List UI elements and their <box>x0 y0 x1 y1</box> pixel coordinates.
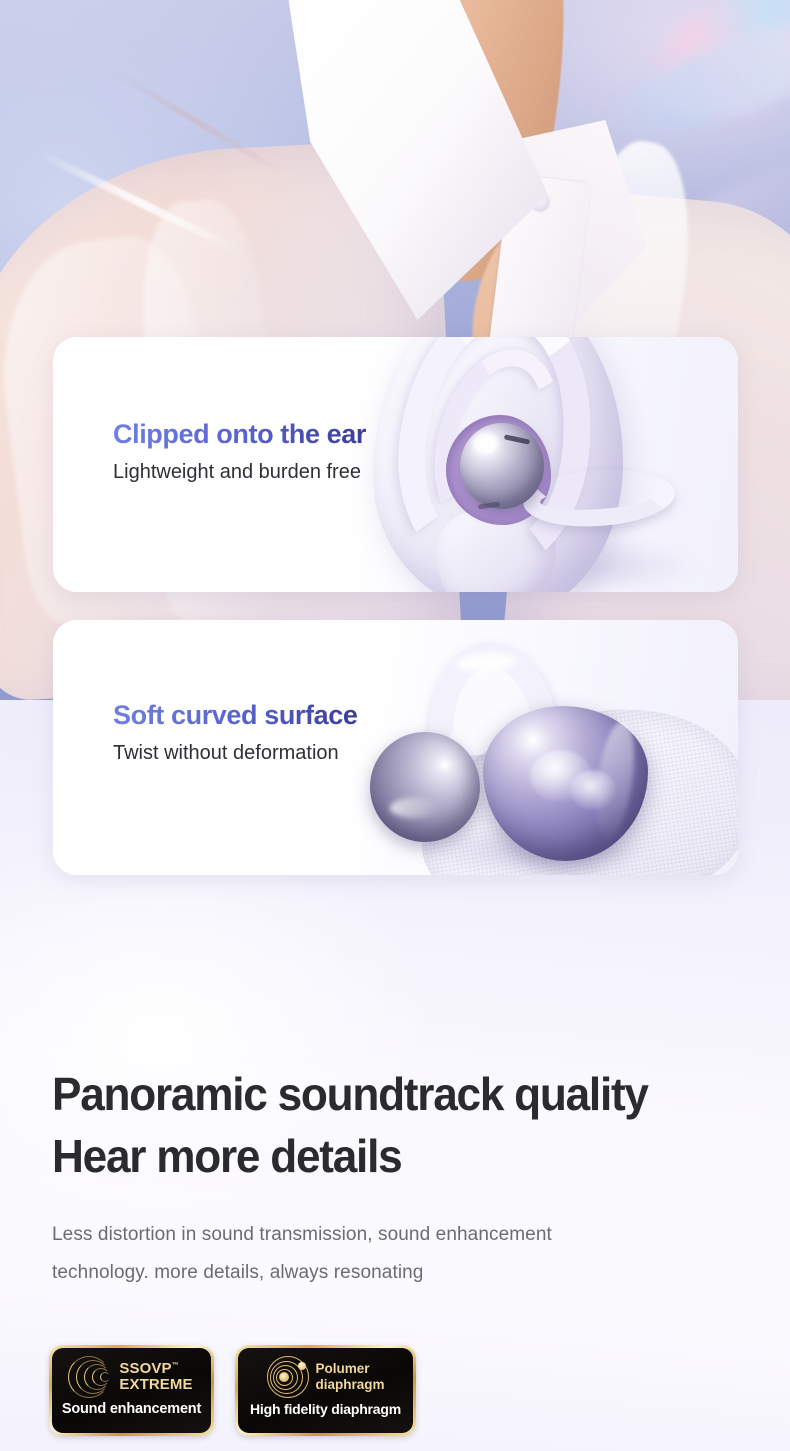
headline-line-1: Panoramic soundtrack quality <box>52 1063 724 1125</box>
badge-logo-row: Polumer diaphragm <box>238 1348 413 1402</box>
trademark-icon: ™ <box>172 1362 179 1369</box>
card-subtitle: Lightweight and burden free <box>113 461 366 484</box>
feature-card-clipped-onto-the-ear[interactable]: Clipped onto the ear Lightweight and bur… <box>53 337 738 592</box>
earbud-driver <box>460 423 544 509</box>
body-line-2: technology. more details, always resonat… <box>52 1254 692 1292</box>
earbud-counterweight <box>370 732 480 842</box>
card-title: Soft curved surface <box>113 700 357 731</box>
body-line-1: Less distortion in sound transmission, s… <box>52 1216 692 1254</box>
badge-brand-text: SSOVP™ EXTREME <box>119 1361 192 1392</box>
badge-body: SSOVP™ EXTREME Sound enhancement <box>52 1348 211 1433</box>
card-subtitle: Twist without deformation <box>113 742 357 765</box>
earbud-highlight <box>570 770 616 810</box>
card-product-image-ear <box>318 337 738 592</box>
card-title: Clipped onto the ear <box>113 419 366 450</box>
badge-body: Polumer diaphragm High fidelity diaphrag… <box>238 1348 413 1433</box>
card-text-block: Clipped onto the ear Lightweight and bur… <box>113 419 366 484</box>
badge-high-fidelity-diaphragm[interactable]: Polumer diaphragm High fidelity diaphrag… <box>235 1345 416 1436</box>
badge-brand-line-2: EXTREME <box>119 1377 192 1392</box>
certification-badges: SSOVP™ EXTREME Sound enhancement Polumer… <box>49 1345 416 1436</box>
badge-logo-row: SSOVP™ EXTREME <box>52 1348 211 1402</box>
card-product-image-earbud <box>298 620 738 875</box>
badge-brand-line-2: diaphragm <box>315 1377 384 1392</box>
badge-caption: Sound enhancement <box>62 1402 201 1425</box>
spiral-diaphragm-icon <box>266 1355 310 1399</box>
badge-brand-text: Polumer diaphragm <box>315 1361 384 1391</box>
badge-brand-line-1: Polumer <box>315 1361 384 1376</box>
feature-card-soft-curved-surface[interactable]: Soft curved surface Twist without deform… <box>53 620 738 875</box>
badge-caption: High fidelity diaphragm <box>250 1402 401 1424</box>
badge-brand-name: SSOVP <box>119 1360 171 1377</box>
badge-sound-enhancement[interactable]: SSOVP™ EXTREME Sound enhancement <box>49 1345 214 1436</box>
product-detail-page: Clipped onto the ear Lightweight and bur… <box>0 0 790 1451</box>
headline-line-2: Hear more details <box>52 1125 724 1187</box>
badge-brand-line-1: SSOVP™ <box>119 1361 192 1376</box>
section-headline: Panoramic soundtrack quality Hear more d… <box>52 1063 724 1187</box>
sound-wave-icon <box>70 1356 114 1398</box>
card-text-block: Soft curved surface Twist without deform… <box>113 700 357 765</box>
section-body-text: Less distortion in sound transmission, s… <box>52 1216 692 1292</box>
